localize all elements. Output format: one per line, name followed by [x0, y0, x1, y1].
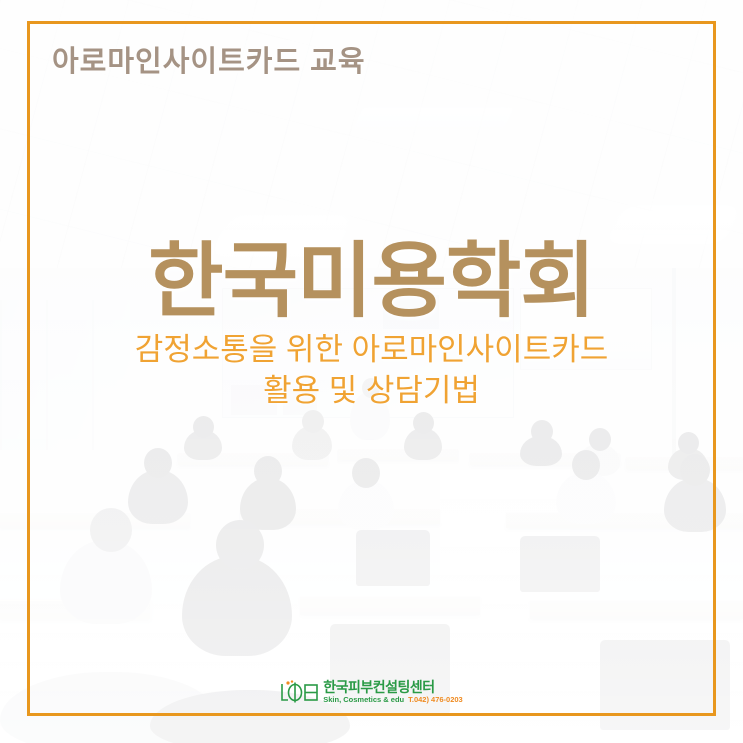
logo-text-block: 한국피부컨설팅센터 Skin, Cosmetics & edu T.042) 4… — [323, 680, 462, 704]
logo-tagline: Skin, Cosmetics & edu — [323, 696, 404, 704]
logo-subline: Skin, Cosmetics & edu T.042) 476-0203 — [323, 696, 462, 704]
logo-company-name: 한국피부컨설팅센터 — [323, 680, 462, 694]
brand-logo: 한국피부컨설팅센터 Skin, Cosmetics & edu T.042) 4… — [0, 680, 743, 706]
page-title: 한국미용학회 — [0, 214, 743, 333]
poster-canvas: 아로마인사이트카드 교육 한국미용학회 감정소통을 위한 아로마인사이트카드 활… — [0, 0, 743, 743]
subtitle: 감정소통을 위한 아로마인사이트카드 활용 및 상담기법 — [0, 330, 743, 412]
subtitle-line-1: 감정소통을 위한 아로마인사이트카드 — [0, 330, 743, 371]
logo-phone: T.042) 476-0203 — [408, 696, 463, 704]
kicker-text: 아로마인사이트카드 교육 — [52, 38, 366, 80]
subtitle-line-2: 활용 및 상담기법 — [0, 371, 743, 412]
korean-skin-consulting-center-logo-icon — [280, 680, 320, 706]
